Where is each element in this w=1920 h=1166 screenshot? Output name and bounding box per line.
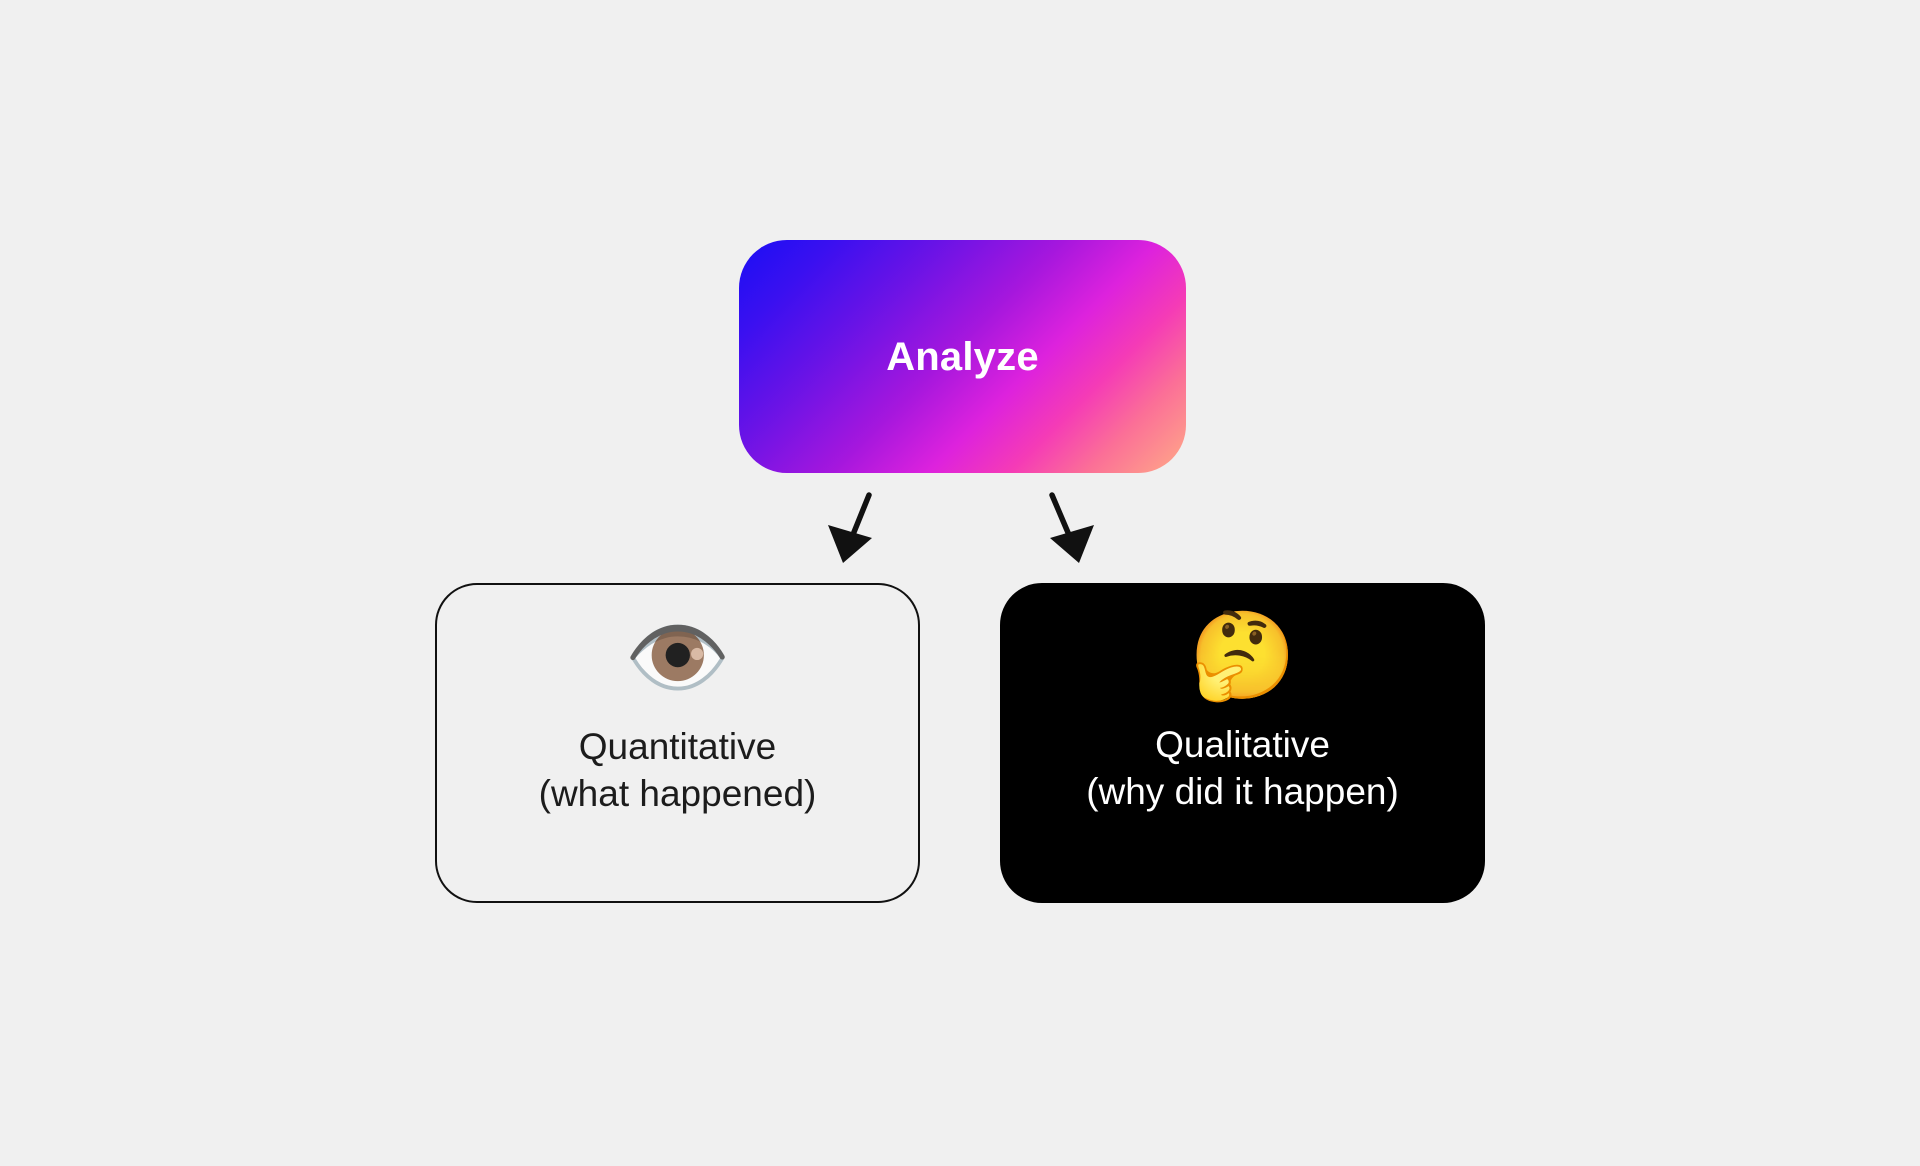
node-analyze[interactable]: Analyze [739,240,1186,473]
card-quantitative[interactable]: 👁️ Quantitative (what happened) [435,583,920,903]
card-qualitative[interactable]: 🤔 Qualitative (why did it happen) [1000,583,1485,903]
node-analyze-label: Analyze [886,337,1039,377]
card-quantitative-label: Quantitative (what happened) [539,723,817,818]
thinking-face-icon: 🤔 [1189,613,1296,699]
arrow-to-qualitative [1050,495,1094,563]
diagram-canvas: Analyze 👁️ Quantitative (what happened) … [0,0,1920,1166]
connector-arrows [0,0,1920,1166]
arrow-to-quantitative [828,495,872,563]
card-qualitative-label: Qualitative (why did it happen) [1086,721,1399,816]
eye-icon: 👁️ [624,615,731,701]
